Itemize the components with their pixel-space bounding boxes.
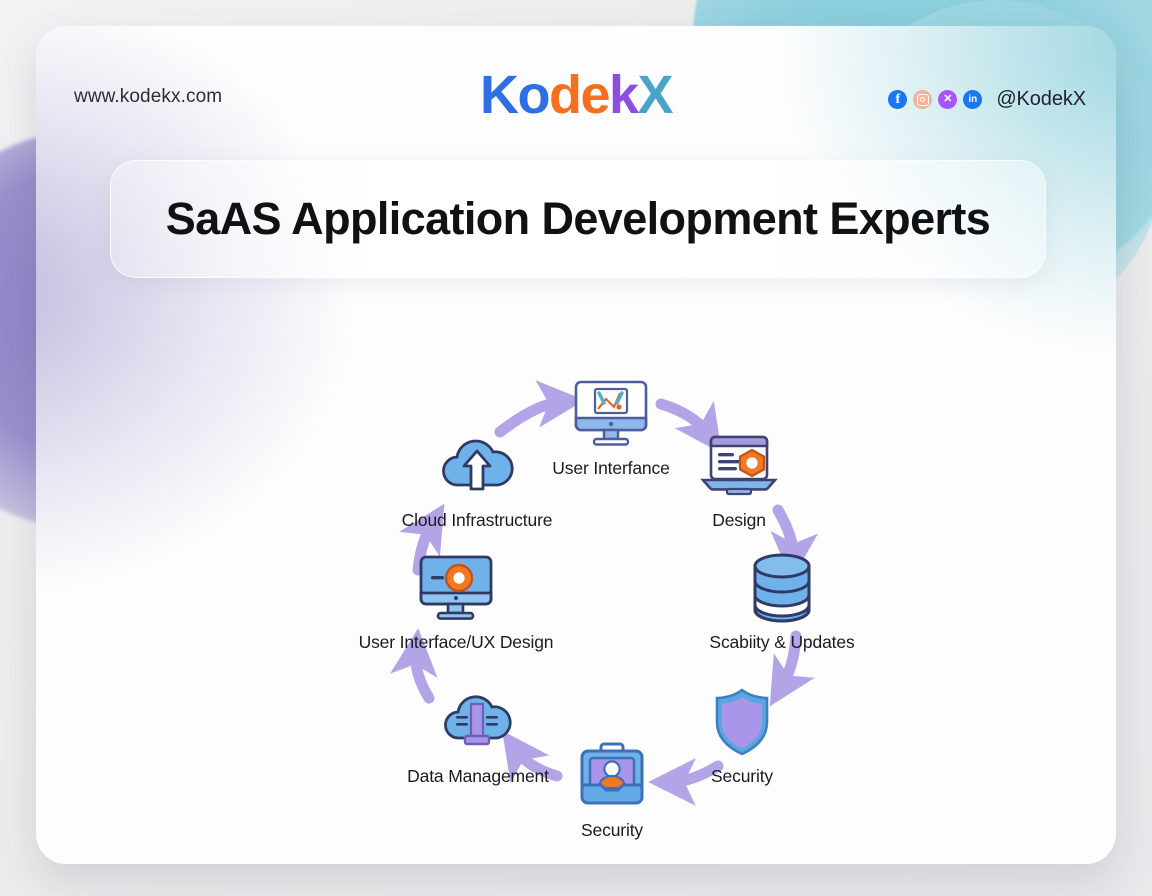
database-icon [652, 548, 912, 628]
logo-letter-1: o [517, 64, 549, 126]
node-label: Data Management [348, 766, 608, 787]
instagram-icon[interactable] [913, 90, 932, 109]
logo-letter-3: e [580, 64, 609, 126]
social-handle: @KodekX [996, 88, 1086, 111]
laptop-hexagon-icon [644, 426, 834, 506]
poster-header: www.kodekx.com KodekX f ✕ in @KodekX [36, 72, 1116, 132]
linkedin-icon[interactable]: in [963, 90, 982, 109]
node-scalability-updates[interactable]: Scabiity & Updates [652, 548, 912, 653]
cloud-upload-icon [347, 426, 607, 506]
x-twitter-icon[interactable]: ✕ [938, 90, 957, 109]
poster-card: www.kodekx.com KodekX f ✕ in @KodekX SaA… [36, 26, 1116, 864]
node-label: User Interface/UX Design [326, 632, 586, 653]
logo-letter-4: k [609, 64, 638, 126]
node-ui-ux-design[interactable]: User Interface/UX Design [326, 548, 586, 653]
node-label: Scabiity & Updates [652, 632, 912, 653]
node-label: Security [517, 820, 707, 841]
social-links: f ✕ in @KodekX [888, 88, 1086, 111]
node-cloud-infrastructure[interactable]: Cloud Infrastructure [347, 426, 607, 531]
poster-background: www.kodekx.com KodekX f ✕ in @KodekX SaA… [0, 0, 1152, 896]
logo-letter-5: X [638, 64, 673, 126]
node-label: Cloud Infrastructure [347, 510, 607, 531]
brand-logo: KodekX [480, 64, 672, 126]
cloud-data-icon [348, 682, 608, 762]
cycle-diagram: User Interfance [36, 326, 1116, 856]
page-title: SaAS Application Development Experts [166, 193, 990, 245]
node-data-management[interactable]: Data Management [348, 682, 608, 787]
title-banner: SaAS Application Development Experts [110, 160, 1046, 278]
facebook-icon[interactable]: f [888, 90, 907, 109]
node-design[interactable]: Design [644, 426, 834, 531]
monitor-play-icon [326, 548, 586, 628]
node-label: Design [644, 510, 834, 531]
logo-letter-0: K [480, 64, 518, 126]
logo-letter-2: d [549, 64, 581, 126]
site-url[interactable]: www.kodekx.com [74, 86, 222, 108]
